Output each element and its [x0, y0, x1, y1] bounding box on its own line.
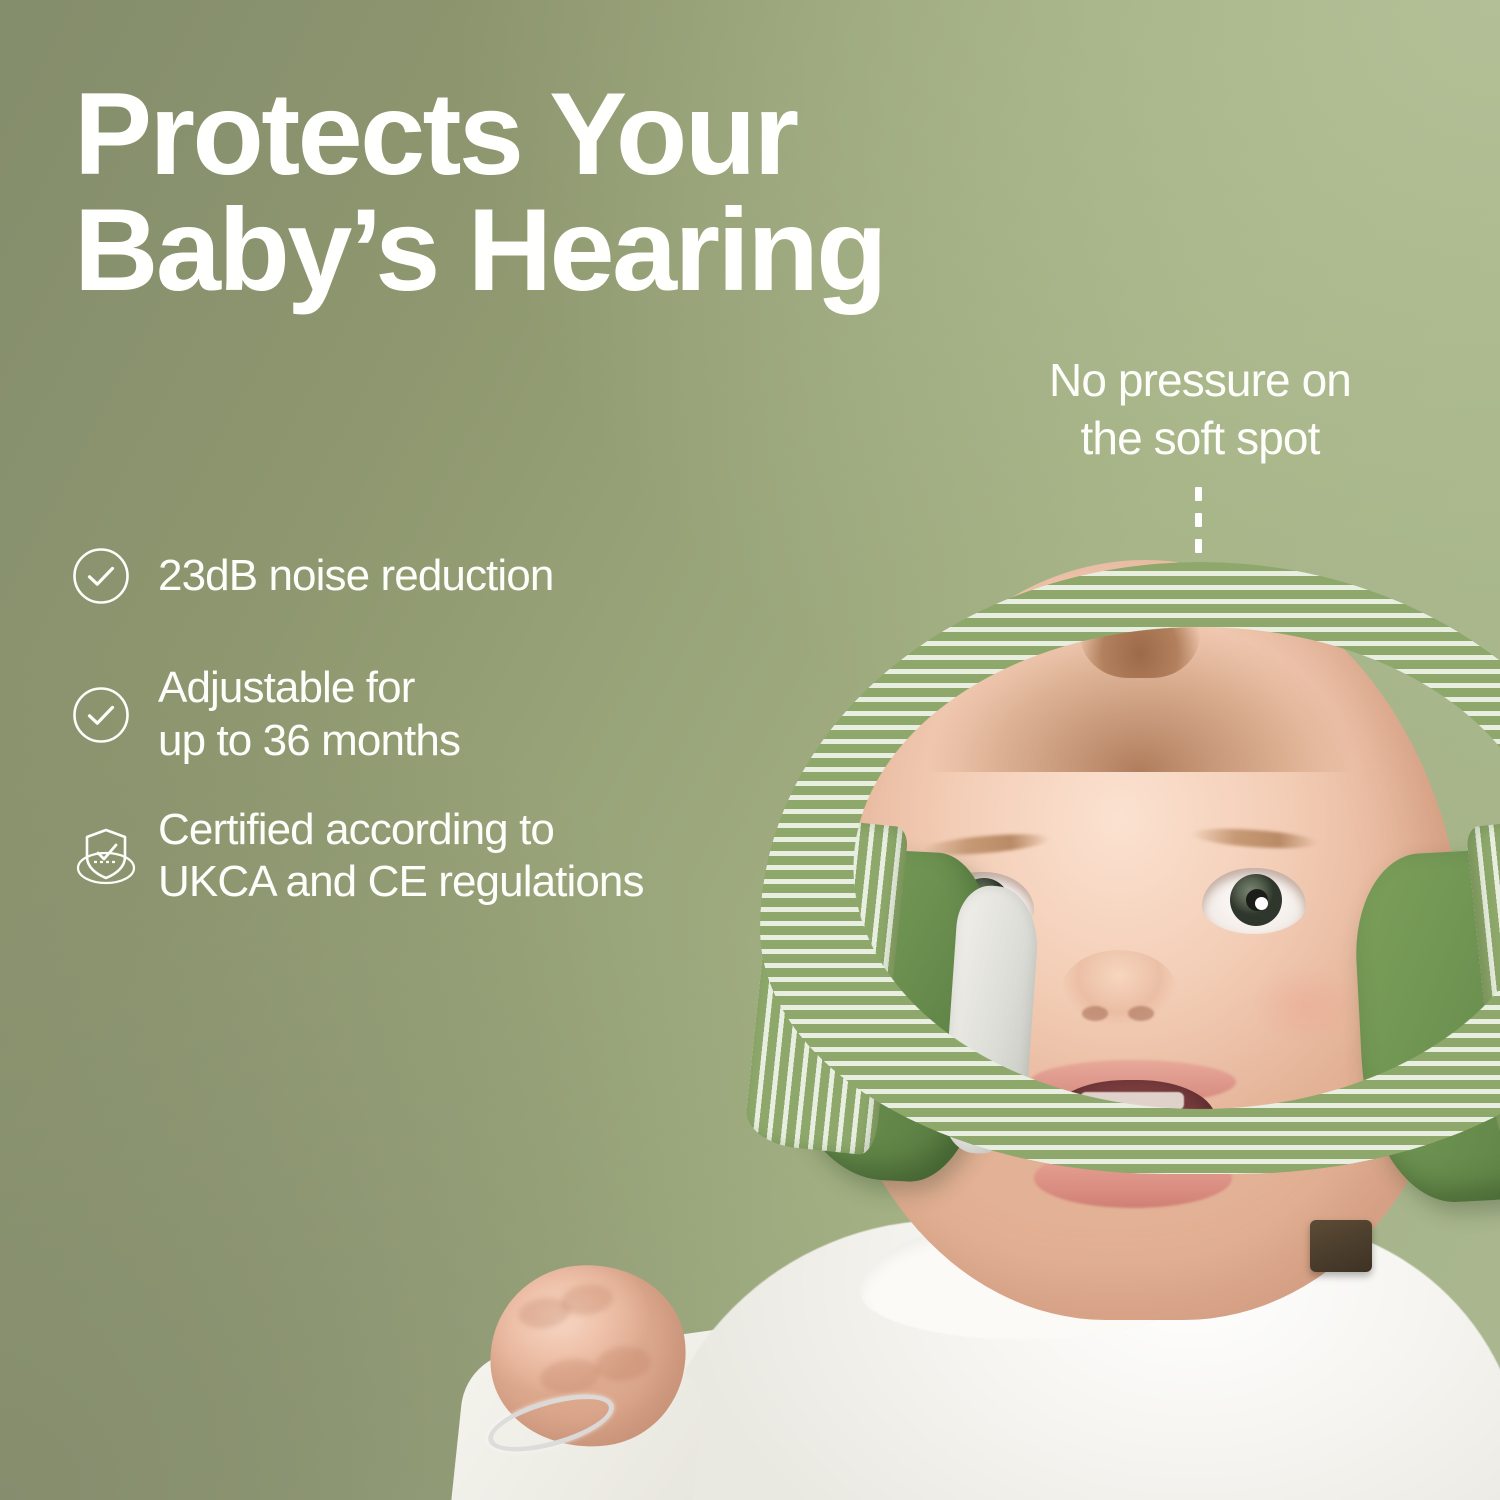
product-photo-baby-wearing-earmuffs: ALPINE [430, 520, 1500, 1500]
check-circle-icon [72, 673, 156, 757]
chin-buckle [1310, 1220, 1372, 1272]
check-circle-icon [72, 534, 156, 618]
page-title: Protects Your Baby’s Hearing [74, 76, 954, 308]
shield-check-icon [72, 814, 156, 898]
callout-label: No pressure on the soft spot [960, 352, 1440, 468]
product-feature-image: Protects Your Baby’s Hearing No pressure… [0, 0, 1500, 1500]
headband-striped [760, 562, 1500, 1174]
feature-label: Adjustable for up to 36 months [158, 662, 460, 768]
headband-wrap [430, 520, 1500, 1500]
